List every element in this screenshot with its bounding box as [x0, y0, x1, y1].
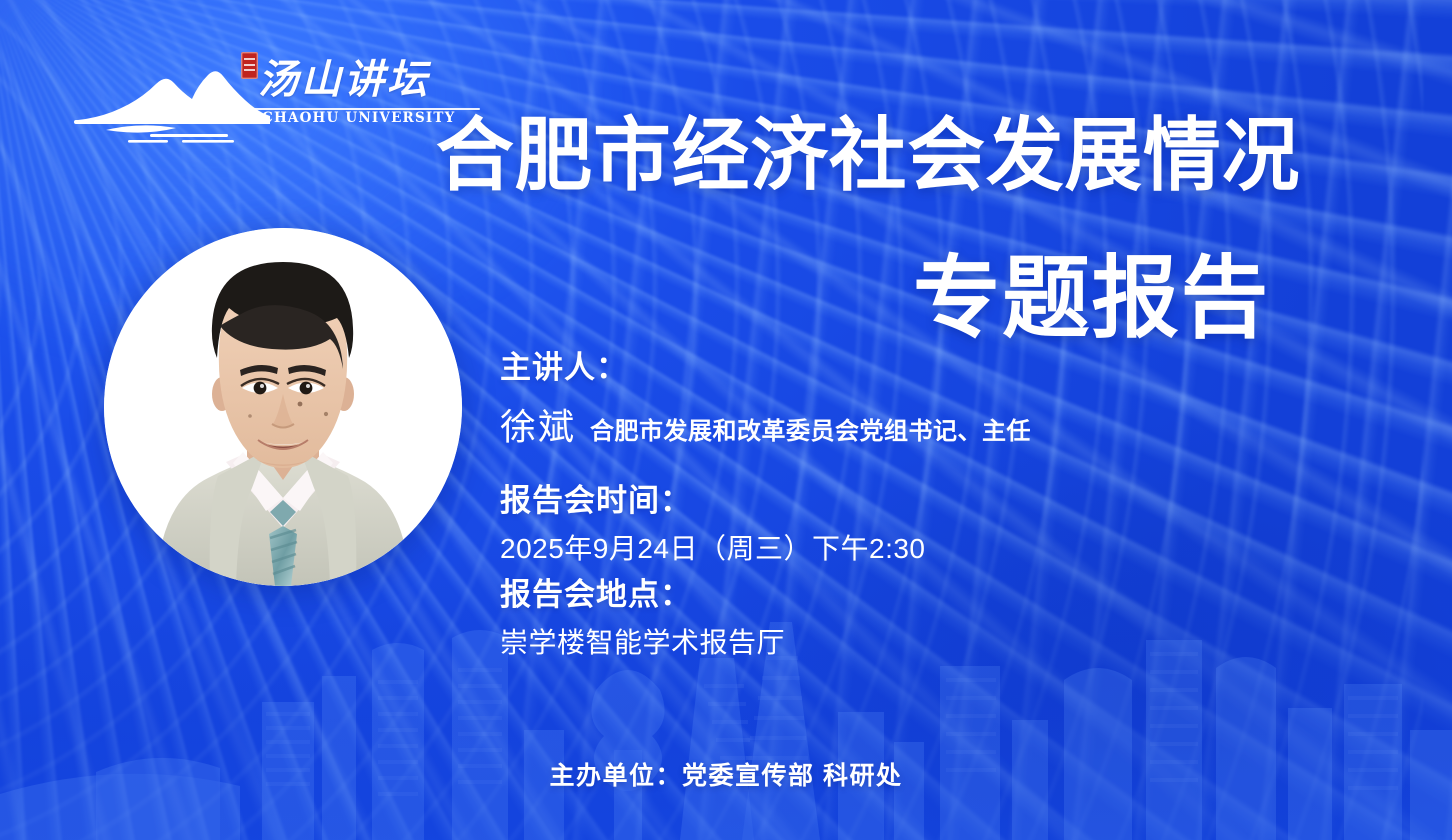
- spacer-after-place-label: [500, 615, 1260, 625]
- poster-title-line-2: 专题报告: [913, 254, 1270, 344]
- red-seal-icon: [241, 52, 258, 79]
- chaohu-university-logo: 汤山讲坛 CHAOHU UNIVERSITY: [70, 52, 420, 148]
- place-value: 崇学楼智能学术报告厅: [500, 625, 1260, 661]
- place-label: 报告会地点：: [500, 575, 1260, 615]
- speaker-row: 徐斌 合肥市发展和改革委员会党组书记、主任: [500, 406, 1260, 447]
- time-value: 2025年9月24日（周三）下午2:30: [500, 531, 1260, 567]
- footer: 主办单位：党委宣传部 科研处: [0, 756, 1452, 792]
- mountain-water-icon: [70, 58, 270, 144]
- speaker-label: 主讲人：: [500, 348, 1260, 388]
- organizer-text: 主办单位：党委宣传部 科研处: [550, 756, 903, 792]
- spacer-after-time-value: [500, 567, 1260, 575]
- spacer-after-speaker: [500, 447, 1260, 481]
- logo-english-name: CHAOHU UNIVERSITY: [262, 110, 456, 126]
- poster-title-line-1: 合肥市经济社会发展情况: [436, 116, 1300, 196]
- time-label: 报告会时间：: [500, 481, 1260, 521]
- logo-chinese-name: 汤山讲坛: [258, 60, 430, 100]
- spacer-after-time-label: [500, 521, 1260, 531]
- event-info-block: 主讲人： 徐斌 合肥市发展和改革委员会党组书记、主任 报告会时间： 2025年9…: [500, 348, 1260, 661]
- poster-root: 汤山讲坛 CHAOHU UNIVERSITY 合肥市经济社会发展情况 专题报告: [0, 0, 1452, 840]
- speaker-portrait: [104, 228, 462, 586]
- speaker-name: 徐斌: [500, 406, 576, 447]
- speaker-position-title: 合肥市发展和改革委员会党组书记、主任: [590, 418, 1031, 447]
